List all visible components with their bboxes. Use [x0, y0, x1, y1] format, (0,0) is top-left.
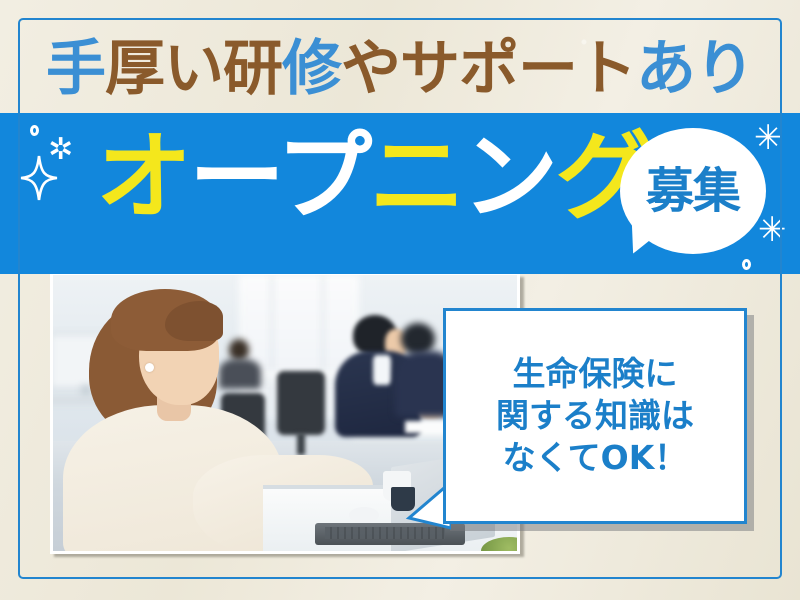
callout-line: なくてOK！ — [503, 437, 688, 479]
headline-char-10: あ — [636, 39, 695, 99]
headline-char-9: ト — [577, 39, 636, 99]
photo-woman-earring — [145, 363, 154, 372]
headline-char-4: 修 — [282, 39, 341, 99]
headline-text: 手厚い研修やサポートあり — [46, 39, 754, 99]
headline-char-5: や — [341, 39, 400, 99]
banner-title-char-0: オ — [96, 121, 189, 233]
headline-char-11: り — [695, 39, 754, 99]
photo-person-background — [229, 339, 249, 361]
star-icon: ✳ — [754, 121, 783, 155]
callout-line: 生命保険に — [513, 353, 678, 395]
circle-outline-icon — [742, 259, 751, 270]
banner-title-char-2: プ — [276, 121, 369, 233]
recruiting-speech-bubble: 募集 — [620, 128, 766, 254]
headline-char-8: ー — [518, 39, 577, 99]
photo-mouse — [349, 507, 379, 523]
headline: 手厚い研修やサポートあり — [0, 26, 800, 112]
callout-line: 関する知識は — [496, 395, 694, 437]
banner-title: オープニング — [96, 129, 648, 225]
banner-title-char-1: ー — [189, 121, 276, 233]
banner-title-char-3: ニ — [369, 121, 462, 233]
callout-box: 生命保険に 関する知識は なくてOK！ — [443, 308, 747, 524]
photo-person-background — [373, 355, 391, 385]
job-ad-poster: 手厚い研修やサポートあり ✲ オープニング ✳ ✳ 募集 — [0, 0, 800, 600]
photo-window-mullion — [271, 275, 273, 419]
banner-title-char-4: ン — [462, 121, 555, 233]
recruiting-label: 募集 — [646, 167, 740, 215]
photo-chair — [277, 371, 325, 435]
circle-outline-icon — [30, 125, 39, 136]
headline-char-0: 手 — [46, 39, 105, 99]
headline-char-2: い — [164, 39, 223, 99]
photo-person-background — [219, 359, 261, 389]
star-icon: ✳ — [758, 213, 787, 247]
headline-char-6: サ — [400, 39, 459, 99]
diamond-sparkle-icon — [18, 153, 60, 203]
headline-char-1: 厚 — [105, 39, 164, 99]
headline-char-7: ポ — [459, 39, 518, 99]
headline-char-3: 研 — [223, 39, 282, 99]
photo-chair — [297, 433, 305, 455]
